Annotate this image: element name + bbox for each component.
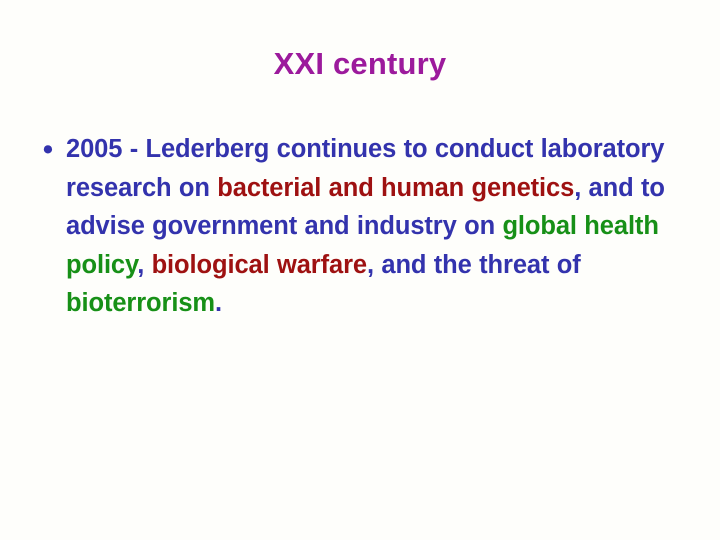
page-title: XXI century bbox=[0, 46, 720, 82]
bullet-icon: • bbox=[30, 130, 66, 170]
text-run-7: bioterrorism bbox=[66, 289, 215, 317]
list-item: • 2005 - Lederberg continues to conduct … bbox=[30, 130, 690, 323]
slide-body: • 2005 - Lederberg continues to conduct … bbox=[30, 130, 690, 323]
bullet-text: 2005 - Lederberg continues to conduct la… bbox=[66, 130, 666, 323]
text-run-8: . bbox=[215, 289, 222, 317]
text-run-4: , bbox=[137, 251, 151, 279]
text-run-6: , and the threat of bbox=[367, 251, 581, 279]
slide: XXI century • 2005 - Lederberg continues… bbox=[0, 0, 720, 540]
text-run-5: biological warfare bbox=[152, 251, 367, 279]
text-run-1: bacterial and human genetics bbox=[217, 174, 574, 202]
